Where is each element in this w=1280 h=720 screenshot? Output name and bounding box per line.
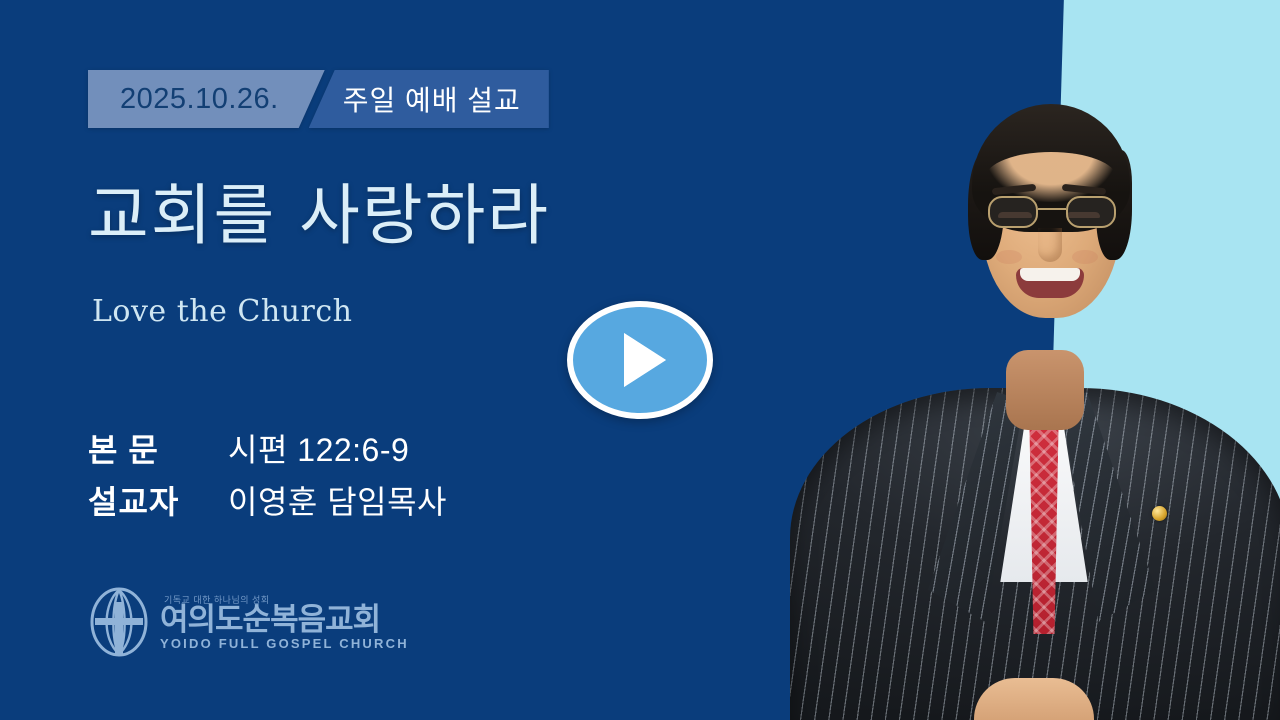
sermon-title-english: Love the Church bbox=[92, 294, 352, 329]
play-button[interactable] bbox=[566, 300, 713, 420]
church-logo: 기독교 대한 하나님의 성회 여의도순복음교회 YOIDO FULL GOSPE… bbox=[88, 586, 409, 658]
date-text: 2025.10.26. bbox=[120, 83, 279, 116]
sermon-title-korean: 교회를 사랑하라 bbox=[88, 180, 550, 253]
church-logo-text: 기독교 대한 하나님의 성회 여의도순복음교회 YOIDO FULL GOSPE… bbox=[160, 593, 409, 652]
cheek-left bbox=[996, 250, 1022, 264]
neck bbox=[1006, 350, 1084, 430]
detail-row-scripture: 본 문 시편 122:6-9 bbox=[88, 425, 447, 471]
play-button-ring bbox=[567, 301, 713, 419]
nose bbox=[1038, 228, 1062, 262]
eyeglasses-icon bbox=[986, 196, 1118, 230]
play-triangle-icon bbox=[624, 333, 666, 387]
sermon-kind-text: 주일 예배 설교 bbox=[343, 79, 521, 119]
preacher-value: 이영훈 담임목사 bbox=[228, 477, 447, 523]
eyeglass-lens-right bbox=[1066, 196, 1116, 228]
church-name-english: YOIDO FULL GOSPEL CHURCH bbox=[160, 636, 409, 652]
mouth bbox=[1016, 268, 1084, 298]
church-globe-cross-icon bbox=[88, 586, 150, 658]
cheek-right bbox=[1072, 250, 1098, 264]
sermon-kind-chip: 주일 예배 설교 bbox=[309, 70, 549, 128]
sermon-thumbnail: 2025.10.26. 주일 예배 설교 교회를 사랑하라 Love the C… bbox=[0, 0, 1280, 720]
teeth bbox=[1020, 268, 1080, 281]
detail-row-preacher: 설교자 이영훈 담임목사 bbox=[88, 477, 447, 523]
sermon-details: 본 문 시편 122:6-9 설교자 이영훈 담임목사 bbox=[88, 425, 447, 529]
preacher-label: 설교자 bbox=[88, 477, 228, 523]
lapel-pin-icon bbox=[1152, 506, 1167, 521]
hand bbox=[974, 678, 1094, 720]
scripture-label: 본 문 bbox=[88, 425, 228, 471]
scripture-value: 시편 122:6-9 bbox=[228, 425, 409, 471]
eyeglass-lens-left bbox=[988, 196, 1038, 228]
preacher-photo bbox=[760, 0, 1280, 720]
eyeglass-bridge bbox=[1038, 208, 1066, 210]
header-badge: 2025.10.26. 주일 예배 설교 bbox=[88, 70, 549, 128]
church-name-korean: 여의도순복음교회 bbox=[160, 604, 409, 635]
date-chip: 2025.10.26. bbox=[88, 70, 325, 128]
